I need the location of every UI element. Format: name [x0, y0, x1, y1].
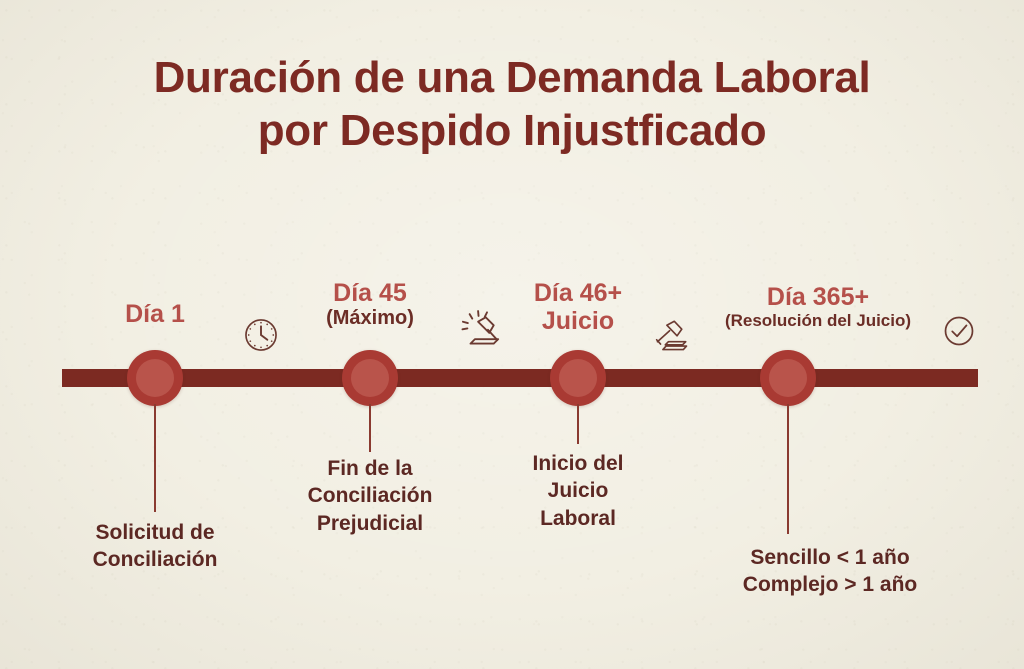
milestone-1-stem: [154, 404, 156, 512]
milestone-3-below-line-3: Laboral: [532, 505, 623, 532]
milestone-2-below-line-3: Prejudicial: [308, 510, 433, 537]
milestone-4-node[interactable]: [760, 350, 816, 406]
milestone-3-below-line-2: Juicio: [532, 477, 623, 504]
milestone-2-stem: [369, 404, 371, 452]
milestone-4-stem: [787, 404, 789, 534]
milestone-3-node[interactable]: [550, 350, 606, 406]
milestone-1-below-line-2: Conciliación: [93, 546, 218, 573]
milestone-1-day: Día 1: [125, 300, 185, 328]
timeline-bar: [62, 369, 978, 387]
milestone-3-label-above: Día 46+ Juicio: [534, 279, 622, 337]
gavel-icon: [648, 315, 692, 359]
milestone-1-label-above: Día 1: [125, 300, 185, 328]
milestone-2-day: Día 45: [326, 279, 414, 307]
milestone-3-label-below: Inicio del Juicio Laboral: [532, 450, 623, 532]
milestone-3-day: Día 46+: [534, 279, 622, 307]
title-line-1: Duración de una Demanda Laboral: [0, 52, 1024, 105]
milestone-3-below-line-1: Inicio del: [532, 450, 623, 477]
milestone-4-below-line-1: Sencillo < 1 año: [743, 544, 917, 571]
milestone-4-label-above: Día 365+ (Resolución del Juicio): [725, 283, 911, 331]
milestone-1-label-below: Solicitud de Conciliación: [93, 519, 218, 574]
milestone-1-below-line-1: Solicitud de: [93, 519, 218, 546]
title-line-2: por Despido Injustficado: [0, 105, 1024, 158]
milestone-4-day: Día 365+: [725, 283, 911, 311]
check-circle-icon: [941, 313, 977, 349]
gavel-strike-icon: [458, 307, 508, 357]
milestone-1-node[interactable]: [127, 350, 183, 406]
milestone-4-below-line-2: Complejo > 1 año: [743, 571, 917, 598]
milestone-2-node[interactable]: [342, 350, 398, 406]
milestone-3-day-sub: Juicio: [534, 307, 622, 337]
milestone-2-label-above: Día 45 (Máximo): [326, 279, 414, 331]
milestone-4-day-sub: (Resolución del Juicio): [725, 311, 911, 331]
milestone-2-label-below: Fin de la Conciliación Prejudicial: [308, 455, 433, 537]
clock-icon: [242, 316, 280, 354]
milestone-2-below-line-1: Fin de la: [308, 455, 433, 482]
page-title: Duración de una Demanda Laboral por Desp…: [0, 52, 1024, 158]
milestone-2-below-line-2: Conciliación: [308, 482, 433, 509]
milestone-3-stem: [577, 404, 579, 444]
milestone-2-day-sub: (Máximo): [326, 307, 414, 331]
milestone-4-label-below: Sencillo < 1 año Complejo > 1 año: [743, 544, 917, 599]
